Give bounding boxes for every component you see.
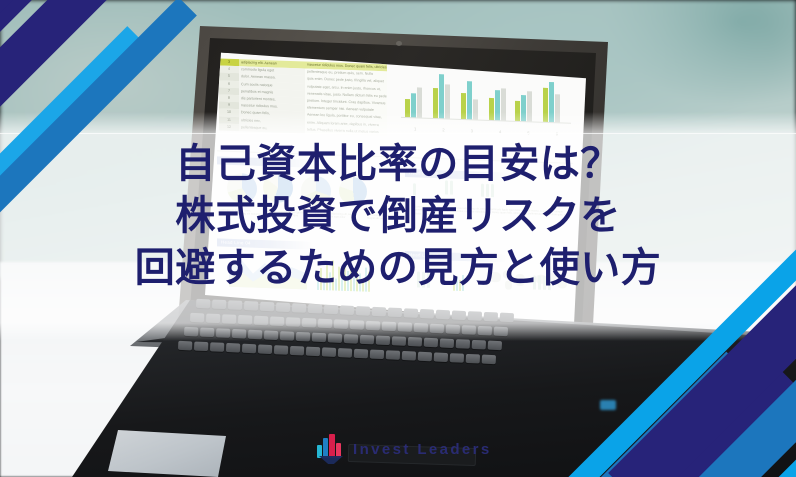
logo-base-shape	[319, 456, 343, 464]
laptop-touchpad	[108, 430, 226, 477]
webcam-icon	[396, 41, 402, 46]
title-line-1: 自己資本比率の目安は？	[0, 138, 796, 190]
title-line-2: 株式投資で倒産リスクを	[0, 190, 796, 242]
chart-bars-logo-icon	[315, 434, 347, 464]
overlay-fade-top	[0, 112, 796, 134]
title-line-3: 回避するための見方と使い方	[0, 242, 796, 294]
brand-logo[interactable]: Invest Leaders	[315, 434, 492, 464]
banner-canvas: 3 adipiscing elit. Aenean nascetur ridic…	[0, 0, 796, 477]
page-title: 自己資本比率の目安は？ 株式投資で倒産リスクを 回避するための見方と使い方	[0, 138, 796, 294]
status-led	[600, 400, 616, 410]
brand-name: Invest Leaders	[353, 441, 492, 458]
overlay-fade-bottom	[0, 323, 796, 341]
